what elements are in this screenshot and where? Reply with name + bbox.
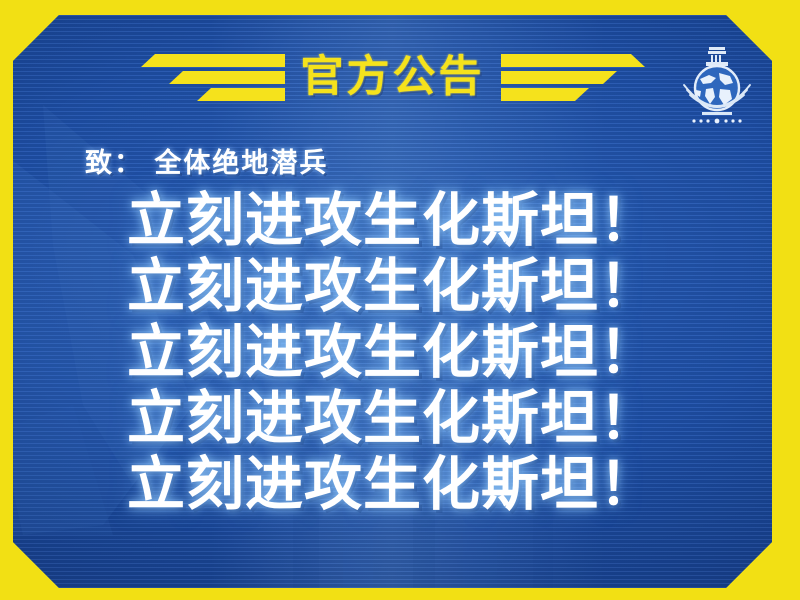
title-row: 官方公告 [13,41,772,113]
message-line: 立刻进攻生化斯坦！ [13,319,772,385]
page-title: 官方公告 [301,56,485,99]
official-announcement-poster: 官方公告 [0,0,800,600]
poster-header: 官方公告 [13,41,772,113]
salutation-text: 致： 全体绝地潜兵 [85,141,328,180]
message-block: 立刻进攻生化斯坦！ 立刻进攻生化斯坦！ 立刻进攻生化斯坦！ 立刻进攻生化斯坦！ … [13,187,772,517]
super-earth-globe-emblem-icon [678,43,756,131]
message-line: 立刻进攻生化斯坦！ [13,187,772,253]
announcement-panel: 官方公告 [13,15,772,588]
message-line: 立刻进攻生化斯坦！ [13,451,772,517]
message-line: 立刻进攻生化斯坦！ [13,253,772,319]
wing-chevron-left-icon [135,50,285,104]
wing-chevron-right-icon [501,50,651,104]
message-line: 立刻进攻生化斯坦！ [13,385,772,451]
